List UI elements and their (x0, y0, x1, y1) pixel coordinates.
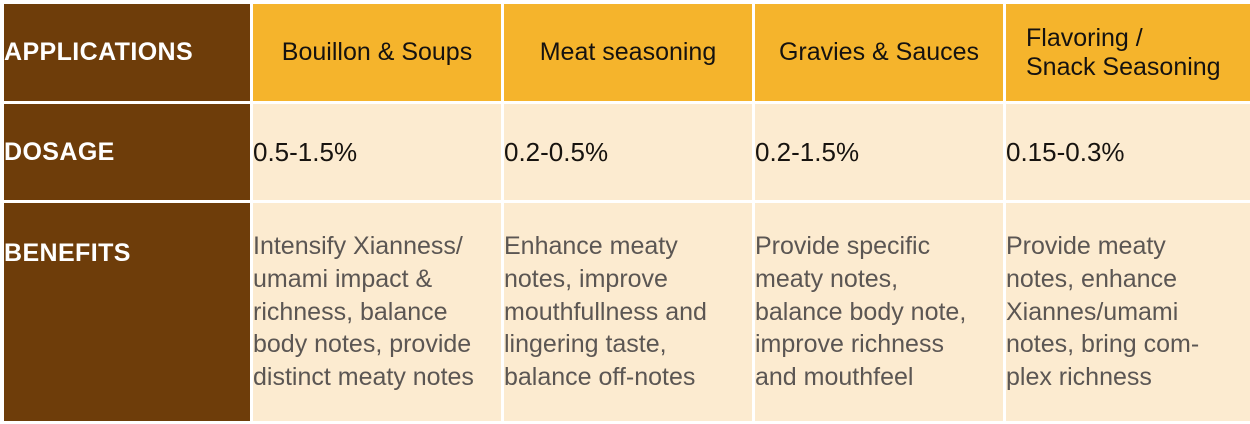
column-header-line: Bouillon & Soups (253, 38, 501, 67)
row-label-dosage: DOSAGE (4, 104, 250, 200)
benefits-line: Xiannes/umami (1006, 296, 1250, 329)
benefits-line: Intensify Xianness/ (253, 230, 501, 263)
benefits-line: balance body note, (755, 296, 1003, 329)
column-header-line: Flavoring / (1026, 24, 1250, 53)
row-label-benefits: BENEFITS (4, 203, 250, 421)
column-header-line: Meat seasoning (504, 38, 752, 67)
benefits-line: Provide specific (755, 230, 1003, 263)
benefits-line: distinct meaty notes (253, 361, 501, 394)
benefits-line: notes, improve (504, 263, 752, 296)
dosage-value-flavoring-snack-seasoning: 0.15-0.3% (1006, 104, 1250, 200)
table-row-dosage: DOSAGE 0.5-1.5% 0.2-0.5% 0.2-1.5% 0.15-0… (4, 104, 1250, 200)
benefits-text-gravies-and-sauces: Provide specific meaty notes, balance bo… (755, 203, 1003, 421)
benefits-line: improve richness (755, 328, 1003, 361)
benefits-line: notes, bring com- (1006, 328, 1250, 361)
benefits-line: Provide meaty (1006, 230, 1250, 263)
benefits-line: balance off-notes (504, 361, 752, 394)
benefits-line: and mouthfeel (755, 361, 1003, 394)
row-label-applications: APPLICATIONS (4, 4, 250, 101)
column-header-line: Snack Seasoning (1026, 53, 1250, 82)
applications-table: APPLICATIONS Bouillon & Soups Meat seaso… (1, 1, 1250, 424)
dosage-value-meat-seasoning: 0.2-0.5% (504, 104, 752, 200)
column-header-bouillon-and-soups: Bouillon & Soups (253, 4, 501, 101)
column-header-gravies-and-sauces: Gravies & Sauces (755, 4, 1003, 101)
benefits-text-meat-seasoning: Enhance meaty notes, improve mouthfullne… (504, 203, 752, 421)
benefits-line: notes, enhance (1006, 263, 1250, 296)
benefits-line: meaty notes, (755, 263, 1003, 296)
benefits-text-bouillon-and-soups: Intensify Xianness/ umami impact & richn… (253, 203, 501, 421)
column-header-flavoring-snack-seasoning: Flavoring / Snack Seasoning (1006, 4, 1250, 101)
benefits-line: Enhance meaty (504, 230, 752, 263)
table-row-benefits: BENEFITS Intensify Xianness/ umami impac… (4, 203, 1250, 421)
benefits-line: plex richness (1006, 361, 1250, 394)
dosage-value-bouillon-and-soups: 0.5-1.5% (253, 104, 501, 200)
column-header-line: Gravies & Sauces (755, 38, 1003, 67)
column-header-meat-seasoning: Meat seasoning (504, 4, 752, 101)
benefits-line: lingering taste, (504, 328, 752, 361)
benefits-line: mouthfullness and (504, 296, 752, 329)
benefits-line: richness, balance (253, 296, 501, 329)
benefits-line: umami impact & (253, 263, 501, 296)
dosage-value-gravies-and-sauces: 0.2-1.5% (755, 104, 1003, 200)
benefits-line: body notes, provide (253, 328, 501, 361)
benefits-text-flavoring-snack-seasoning: Provide meaty notes, enhance Xiannes/uma… (1006, 203, 1250, 421)
applications-table-container: APPLICATIONS Bouillon & Soups Meat seaso… (0, 0, 1250, 418)
table-row-applications: APPLICATIONS Bouillon & Soups Meat seaso… (4, 4, 1250, 101)
